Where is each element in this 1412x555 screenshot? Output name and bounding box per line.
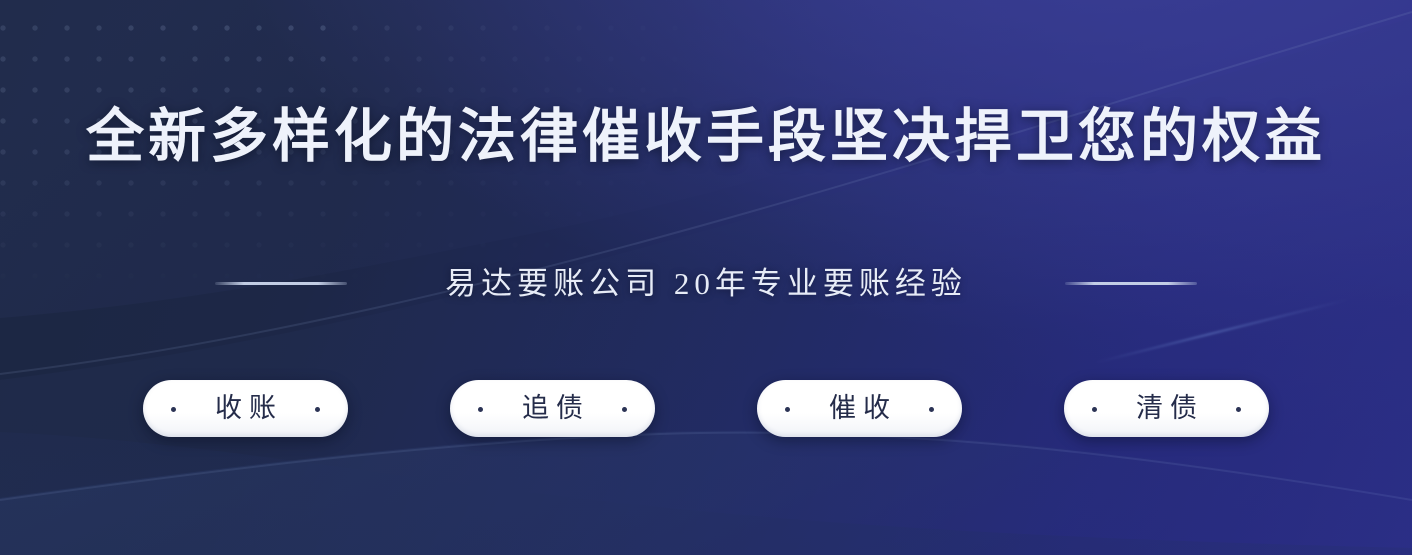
service-pill-zhuizhai[interactable]: 追债 [450, 380, 655, 437]
service-pill-label: 清债 [1129, 395, 1204, 422]
bullet-dot-icon [929, 407, 934, 412]
service-pill-label: 收账 [208, 395, 283, 422]
divider-rule-left [215, 282, 347, 285]
banner-content: 全新多样化的法律催收手段坚决捍卫您的权益 易达要账公司 20年专业要账经验 收账… [0, 0, 1412, 555]
banner-headline: 全新多样化的法律催收手段坚决捍卫您的权益 [0, 108, 1412, 166]
service-pill-group: 收账 追债 催收 清债 [0, 380, 1412, 437]
bullet-dot-icon [315, 407, 320, 412]
bullet-dot-icon [785, 407, 790, 412]
service-pill-label: 追债 [515, 395, 590, 422]
subtitle-row: 易达要账公司 20年专业要账经验 [0, 268, 1412, 299]
bullet-dot-icon [478, 407, 483, 412]
divider-rule-right [1065, 282, 1197, 285]
bullet-dot-icon [1236, 407, 1241, 412]
promo-banner: 全新多样化的法律催收手段坚决捍卫您的权益 易达要账公司 20年专业要账经验 收账… [0, 0, 1412, 555]
bullet-dot-icon [171, 407, 176, 412]
service-pill-shouzhang[interactable]: 收账 [143, 380, 348, 437]
bullet-dot-icon [1092, 407, 1097, 412]
banner-subtitle: 易达要账公司 20年专业要账经验 [445, 268, 967, 299]
service-pill-qingzhai[interactable]: 清债 [1064, 380, 1269, 437]
bullet-dot-icon [622, 407, 627, 412]
service-pill-cuishou[interactable]: 催收 [757, 380, 962, 437]
service-pill-label: 催收 [822, 395, 897, 422]
